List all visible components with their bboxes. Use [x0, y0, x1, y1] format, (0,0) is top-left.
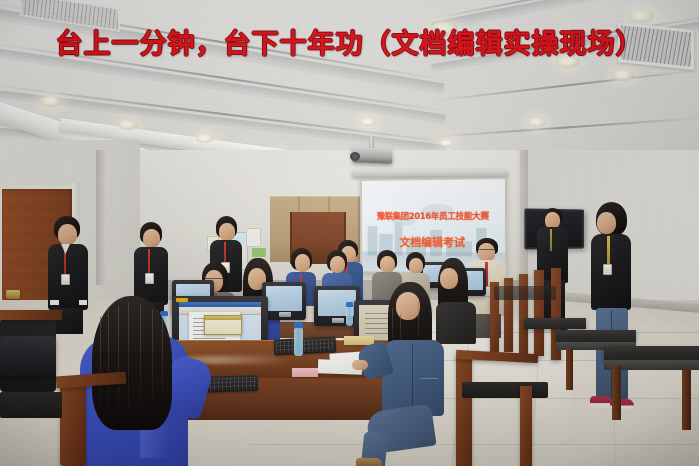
wall-corner-shadow-left — [96, 150, 106, 285]
standing-invigilator-right-2 — [588, 202, 634, 410]
participant-denim-typing — [378, 282, 468, 466]
desk-leg — [566, 348, 573, 390]
badge — [603, 264, 612, 275]
yellow-lanyard — [607, 236, 610, 266]
badge — [61, 274, 70, 285]
head — [143, 229, 160, 248]
bottle-cap — [346, 302, 353, 307]
lanyard — [148, 249, 150, 275]
head — [295, 254, 310, 272]
head — [219, 223, 235, 241]
keyboard[interactable] — [274, 336, 337, 355]
desk-leg — [612, 366, 621, 420]
head — [58, 224, 77, 245]
bottle-cap — [294, 322, 303, 328]
jacket-seam — [412, 344, 413, 414]
chair-seat — [0, 392, 62, 418]
ceiling-vent-icon — [618, 22, 694, 70]
door-handle-icon[interactable] — [6, 290, 20, 299]
glasses-icon — [478, 249, 495, 253]
downlight-1 — [40, 96, 62, 107]
head — [597, 212, 616, 234]
chair-row-item — [534, 270, 544, 356]
head — [380, 256, 395, 273]
paper-sheet — [292, 368, 318, 377]
monitor-rear-view — [0, 336, 56, 376]
chair-foreground-left — [60, 378, 86, 466]
slide-title: 豫联集团2016年员工技能大赛 — [366, 213, 501, 222]
dialog-titlebar — [205, 316, 241, 320]
exit-sign-icon — [252, 248, 266, 257]
desk-leg — [682, 370, 691, 430]
water-bottle — [346, 306, 353, 326]
lanyard — [224, 242, 226, 264]
water-bottle — [294, 328, 303, 356]
downlight-9 — [628, 10, 654, 23]
downlight-7 — [430, 22, 458, 36]
wall-notice — [246, 228, 261, 247]
projector-lens-icon — [350, 152, 360, 161]
monitor — [262, 282, 306, 320]
downlight-13 — [360, 118, 376, 126]
cuff — [50, 300, 59, 305]
hand — [352, 360, 368, 370]
chair-backrest — [494, 286, 556, 300]
downlight-12 — [440, 140, 454, 147]
sneaker — [590, 396, 612, 409]
jacket-pocket — [420, 378, 438, 379]
right-desk-far — [524, 318, 586, 329]
head — [330, 256, 345, 273]
chair-frame — [0, 310, 62, 320]
downlight-11 — [528, 118, 546, 127]
badge — [145, 273, 154, 284]
lanyard — [550, 229, 552, 251]
downlight-2 — [118, 120, 138, 130]
head — [409, 258, 423, 274]
downlight-8 — [556, 56, 580, 68]
photo-canvas: 豫联集团2016年员工技能大赛 文档编辑考试 — [0, 0, 699, 466]
hair-long — [92, 296, 172, 430]
downlight-10 — [612, 70, 634, 81]
shoe — [356, 458, 382, 466]
chair-leg — [520, 386, 532, 466]
dialog-window[interactable] — [204, 315, 242, 335]
chair-seat — [462, 382, 548, 398]
downlight-3 — [196, 134, 214, 143]
